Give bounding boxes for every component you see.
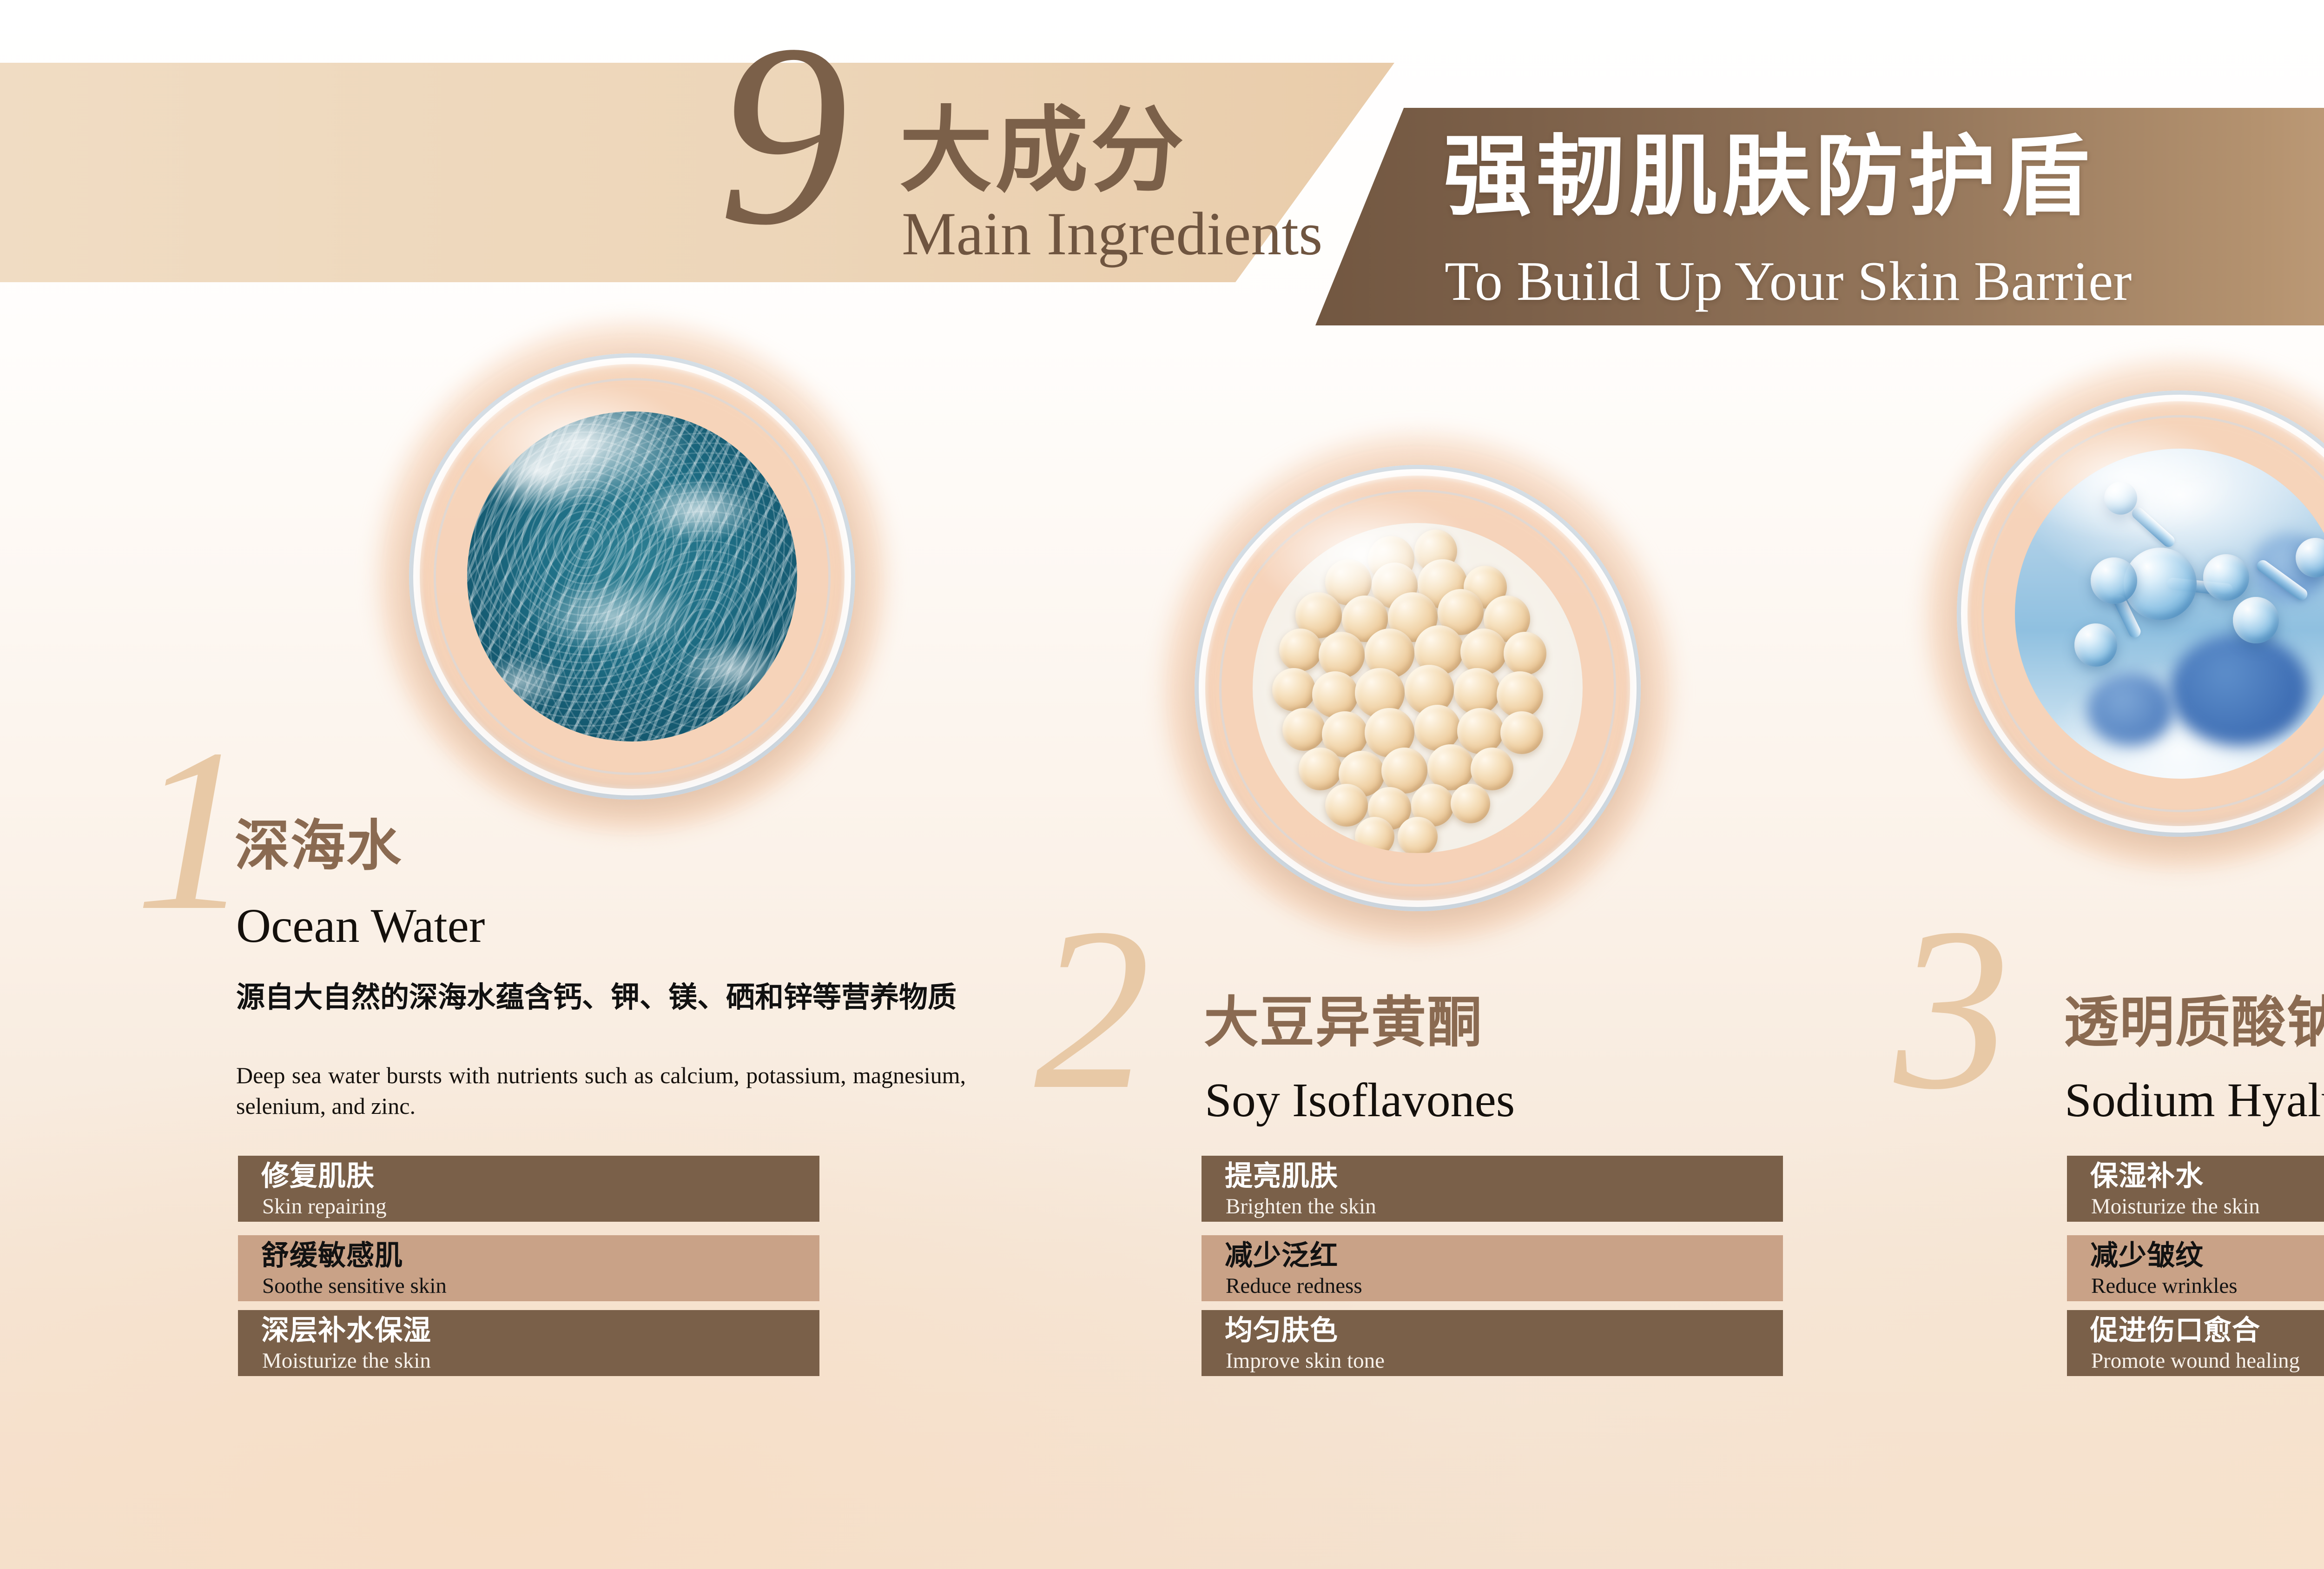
soybean-petri-dish — [1195, 465, 1641, 911]
benefit-label-cn: 促进伤口愈合 — [2090, 1317, 2260, 1344]
benefit-label-en: Promote wound healing — [2091, 1350, 2300, 1372]
banner-title-cn: 强韧肌肤防护盾 — [1443, 132, 2094, 221]
benefit-bar: 均匀肤色 Improve skin tone — [1202, 1310, 1783, 1376]
benefit-label-cn: 减少泛红 — [1225, 1242, 1338, 1270]
benefit-label-cn: 修复肌肤 — [261, 1162, 375, 1190]
banner-title-en: To Build Up Your Skin Barrier — [1445, 253, 2132, 309]
benefit-bar: 深层补水保湿 Moisturize the skin — [238, 1310, 819, 1376]
ingredient-number-3: 3 — [1894, 893, 2010, 1125]
benefit-bar: 保湿补水 Moisturize the skin — [2067, 1156, 2324, 1222]
ingredient-number-2: 2 — [1034, 893, 1150, 1125]
benefit-label-en: Brighten the skin — [1226, 1196, 1376, 1218]
benefit-label-cn: 均匀肤色 — [1225, 1317, 1338, 1344]
benefit-label-cn: 提亮肌肤 — [1225, 1162, 1338, 1190]
benefit-label-en: Moisturize the skin — [262, 1350, 431, 1372]
benefit-label-en: Skin repairing — [262, 1196, 387, 1218]
ingredient-name-en-1: Ocean Water — [236, 902, 485, 950]
benefit-bar: 修复肌肤 Skin repairing — [238, 1156, 819, 1222]
header-title-en: Main Ingredients — [902, 200, 1322, 267]
benefit-bar: 促进伤口愈合 Promote wound healing — [2067, 1310, 2324, 1376]
benefit-bar: 舒缓敏感肌 Soothe sensitive skin — [238, 1235, 819, 1301]
ingredients-infographic: 9 大成分 Main Ingredients 强韧肌肤防护盾 To Build … — [0, 0, 2324, 1569]
ingredient-name-cn-3: 透明质酸钠 — [2064, 995, 2324, 1050]
ingredient-name-en-2: Soy Isoflavones — [1205, 1076, 1515, 1125]
benefit-label-en: Moisturize the skin — [2091, 1196, 2260, 1218]
ingredient-name-cn-2: 大豆异黄酮 — [1204, 995, 1483, 1050]
header-title-cn: 大成分 — [899, 105, 1187, 198]
benefit-label-cn: 保湿补水 — [2090, 1162, 2204, 1190]
ingredient-desc-en-1: Deep sea water bursts with nutrients suc… — [236, 1060, 966, 1121]
dish-inner-rim — [1219, 490, 1616, 887]
benefit-bar: 减少皱纹 Reduce wrinkles — [2067, 1235, 2324, 1301]
hyaluronic-molecule-petri-dish — [1957, 391, 2324, 837]
header-number-9: 9 — [718, 5, 845, 265]
benefit-bar: 减少泛红 Reduce redness — [1202, 1235, 1783, 1301]
benefit-label-en: Reduce wrinkles — [2091, 1275, 2238, 1297]
dish-inner-rim — [434, 378, 831, 775]
benefit-label-cn: 舒缓敏感肌 — [261, 1242, 403, 1270]
ingredient-name-cn-1: 深海水 — [235, 818, 402, 873]
ingredient-name-en-3: Sodium Hyaluronate — [2065, 1076, 2324, 1125]
benefit-label-cn: 减少皱纹 — [2090, 1242, 2204, 1270]
benefit-label-cn: 深层补水保湿 — [261, 1317, 431, 1344]
benefit-label-en: Soothe sensitive skin — [262, 1275, 447, 1297]
ocean-water-petri-dish — [409, 353, 855, 800]
benefit-bar: 提亮肌肤 Brighten the skin — [1202, 1156, 1783, 1222]
benefit-label-en: Reduce redness — [1226, 1275, 1362, 1297]
benefit-label-en: Improve skin tone — [1226, 1350, 1385, 1372]
ingredient-desc-cn-1: 源自大自然的深海水蕴含钙、钾、镁、硒和锌等营养物质 — [236, 979, 980, 1016]
ingredient-number-1: 1 — [135, 714, 251, 946]
